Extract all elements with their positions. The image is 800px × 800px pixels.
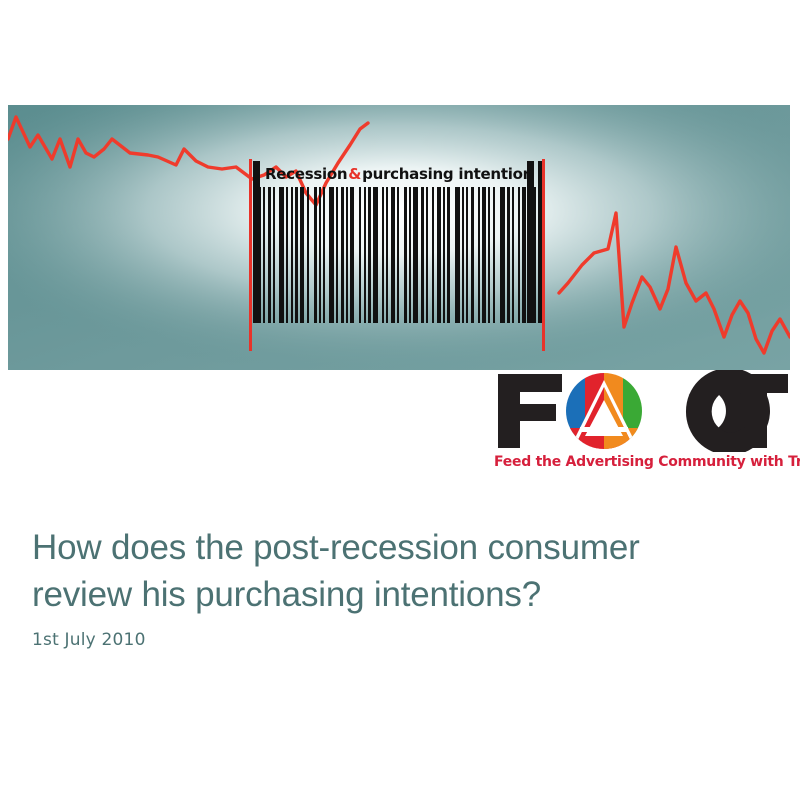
barcode-bar xyxy=(512,187,514,323)
barcode-bar xyxy=(279,187,284,323)
barcode-bar xyxy=(426,187,428,323)
barcode-bar xyxy=(359,187,361,323)
fact-logo-tagline: Feed the Advertising Community with Tren… xyxy=(494,454,784,470)
logo-letter-f xyxy=(498,374,562,448)
barcode-graphic: Recession & purchasing intention xyxy=(244,159,556,351)
fact-logo: Feed the Advertising Community with Tren… xyxy=(492,370,788,478)
page-title: How does the post-recession consumer rev… xyxy=(32,524,762,618)
barcode-bar xyxy=(323,187,325,323)
barcode-bar xyxy=(493,187,495,323)
barcode-bar xyxy=(421,187,424,323)
barcode-bar xyxy=(404,187,407,323)
barcode-bar xyxy=(391,187,395,323)
page-title-line-2: review his purchasing intentions? xyxy=(32,571,762,618)
barcode-bar xyxy=(273,187,275,323)
barcode-bar xyxy=(522,187,526,323)
barcode-bar xyxy=(413,187,418,323)
slide-root: Recession & purchasing intention xyxy=(0,0,800,800)
barcode-bar xyxy=(364,187,366,323)
barcode-bar xyxy=(437,187,441,323)
barcode-bar xyxy=(488,187,490,323)
barcode-bar xyxy=(528,187,530,323)
barcode-bar xyxy=(263,187,265,323)
barcode-title-suffix: purchasing intention xyxy=(362,165,533,183)
barcode-bar xyxy=(319,187,321,323)
barcode-bar xyxy=(286,187,288,323)
barcode-bar xyxy=(471,187,474,323)
barcode-bar xyxy=(329,187,334,323)
barcode-bar xyxy=(482,187,486,323)
barcode-title-ampersand: & xyxy=(347,165,362,183)
barcode-bar xyxy=(538,187,540,323)
hero-banner: Recession & purchasing intention xyxy=(8,105,790,370)
slide-date: 1st July 2010 xyxy=(32,630,146,650)
barcode-bar xyxy=(382,187,384,323)
barcode-bar xyxy=(346,187,348,323)
barcode-bar xyxy=(447,187,450,323)
barcode-bar xyxy=(350,187,354,323)
barcode-bar xyxy=(462,187,464,323)
barcode-title-prefix: Recession xyxy=(265,165,347,183)
page-title-line-1: How does the post-recession consumer xyxy=(32,528,640,567)
barcode-bar xyxy=(443,187,445,323)
barcode-bar xyxy=(397,187,399,323)
barcode-bar xyxy=(455,187,460,323)
barcode-bar xyxy=(500,187,505,323)
fact-logo-mark xyxy=(492,370,788,452)
barcode-bar xyxy=(295,187,298,323)
barcode-bar xyxy=(466,187,468,323)
barcode-bars xyxy=(257,187,545,323)
barcode-bar xyxy=(341,187,344,323)
barcode-bar xyxy=(533,187,536,323)
barcode-bar xyxy=(432,187,434,323)
logo-letter-a-disc xyxy=(566,373,642,452)
barcode-bar xyxy=(507,187,510,323)
barcode-title: Recession & purchasing intention xyxy=(267,162,531,186)
barcode-bar xyxy=(307,187,309,323)
barcode-bar xyxy=(300,187,304,323)
barcode-bar xyxy=(386,187,388,323)
barcode-bar xyxy=(291,187,293,323)
barcode-bar xyxy=(409,187,411,323)
barcode-bar xyxy=(257,187,261,323)
barcode-bar xyxy=(268,187,271,323)
barcode-bar xyxy=(368,187,371,323)
barcode-bar xyxy=(314,187,317,323)
barcode-bar xyxy=(478,187,480,323)
barcode-bar xyxy=(336,187,338,323)
barcode-bar xyxy=(373,187,378,323)
barcode-bar xyxy=(518,187,520,323)
barcode-guard-left xyxy=(249,159,252,351)
